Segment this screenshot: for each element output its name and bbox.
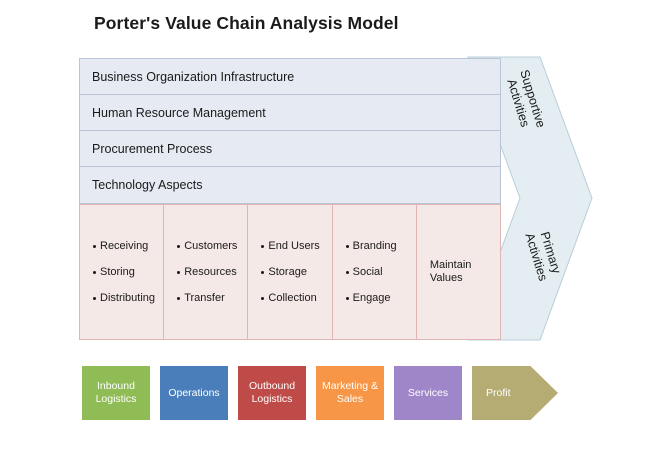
bullet-list-item: Transfer <box>177 292 247 305</box>
bullet-label: Engage <box>353 292 391 305</box>
stage-label: Operations <box>168 387 219 400</box>
bullet-label: Transfer <box>184 292 225 305</box>
bullet-dot-icon <box>261 245 264 248</box>
supportive-activities-label: Supportive Activities <box>501 66 548 136</box>
support-row-label: Human Resource Management <box>92 106 266 120</box>
page-title: Porter's Value Chain Analysis Model <box>94 13 399 34</box>
bullet-list-item: Customers <box>177 240 247 253</box>
bullet-list-item: End Users <box>261 240 331 253</box>
bullet-list-item: Storing <box>93 266 163 279</box>
bullet-label: Receiving <box>100 240 148 253</box>
support-row-label: Technology Aspects <box>92 178 203 192</box>
bullet-dot-icon <box>346 297 349 300</box>
stage-box-operations[interactable]: Operations <box>160 366 228 420</box>
bullet-label: Distributing <box>100 292 155 305</box>
support-row[interactable]: Business Organization Infrastructure <box>80 59 500 95</box>
bullet-dot-icon <box>346 271 349 274</box>
primary-column[interactable]: Branding Social Engage <box>333 205 417 339</box>
bullet-label: Resources <box>184 266 237 279</box>
bullet-label: Branding <box>353 240 397 253</box>
bullet-label: Storing <box>100 266 135 279</box>
stage-box-inbound-logistics[interactable]: Inbound Logistics <box>82 366 150 420</box>
stage-box-outbound-logistics[interactable]: Outbound Logistics <box>238 366 306 420</box>
primary-column[interactable]: Maintain Values <box>417 205 500 339</box>
bullet-list-item: Collection <box>261 292 331 305</box>
stage-box-profit[interactable]: Profit <box>472 366 558 420</box>
plain-label: Maintain Values <box>430 259 500 285</box>
stage-label: Marketing & Sales <box>322 380 378 406</box>
support-row[interactable]: Human Resource Management <box>80 95 500 131</box>
bullet-list-item: Branding <box>346 240 416 253</box>
value-chain-diagram: Porter's Value Chain Analysis Model Supp… <box>0 0 650 454</box>
bullet-dot-icon <box>93 297 96 300</box>
bullet-dot-icon <box>177 271 180 274</box>
stage-label: Profit <box>486 387 511 400</box>
primary-activities-block: Receiving Storing Distributing Customers… <box>79 204 501 340</box>
bullet-dot-icon <box>177 297 180 300</box>
bullet-dot-icon <box>261 271 264 274</box>
primary-activities-label: Primary Activities <box>518 217 567 293</box>
support-row[interactable]: Procurement Process <box>80 131 500 167</box>
bullet-label: End Users <box>268 240 319 253</box>
bullet-list-item: Distributing <box>93 292 163 305</box>
bullet-list-item: Social <box>346 266 416 279</box>
stage-box-marketing-sales[interactable]: Marketing & Sales <box>316 366 384 420</box>
bullet-list-item: Storage <box>261 266 331 279</box>
primary-column[interactable]: Customers Resources Transfer <box>164 205 248 339</box>
support-row-label: Business Organization Infrastructure <box>92 70 294 84</box>
bullet-dot-icon <box>93 245 96 248</box>
stage-label: Inbound Logistics <box>96 380 137 406</box>
bullet-label: Storage <box>268 266 307 279</box>
bullet-label: Customers <box>184 240 237 253</box>
bullet-list-item: Engage <box>346 292 416 305</box>
bullet-list-item: Resources <box>177 266 247 279</box>
bullet-label: Collection <box>268 292 316 305</box>
support-row-label: Procurement Process <box>92 142 212 156</box>
primary-column[interactable]: Receiving Storing Distributing <box>80 205 164 339</box>
support-row[interactable]: Technology Aspects <box>80 167 500 203</box>
stage-box-services[interactable]: Services <box>394 366 462 420</box>
bullet-dot-icon <box>346 245 349 248</box>
bullet-dot-icon <box>261 297 264 300</box>
bullet-dot-icon <box>177 245 180 248</box>
stage-label: Services <box>408 387 448 400</box>
bullet-dot-icon <box>93 271 96 274</box>
stage-label: Outbound Logistics <box>249 380 295 406</box>
primary-column[interactable]: End Users Storage Collection <box>248 205 332 339</box>
value-chain-stage-bar: Inbound Logistics Operations Outbound Lo… <box>82 366 558 420</box>
bullet-list-item: Receiving <box>93 240 163 253</box>
support-activities-block: Business Organization Infrastructure Hum… <box>79 58 501 204</box>
bullet-label: Social <box>353 266 383 279</box>
